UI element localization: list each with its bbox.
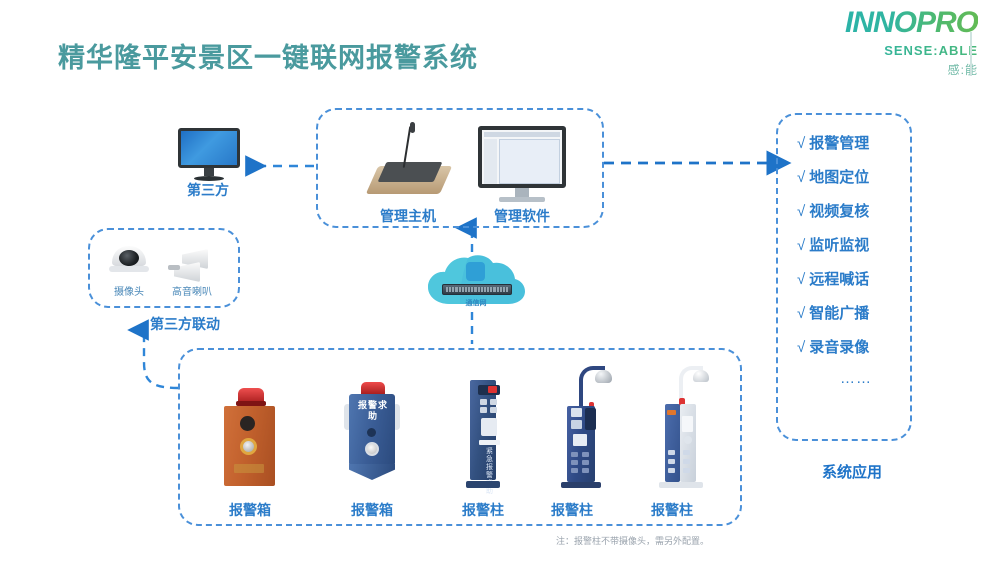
application-label: 远程喊话: [809, 271, 869, 288]
emergency-button: [365, 442, 379, 456]
pillar-grille: [582, 468, 589, 473]
pillar-base: [659, 482, 703, 488]
terminals-note: 注：报警柱不带摄像头，需另外配置。: [556, 534, 709, 547]
network-switch: [442, 284, 512, 295]
alarm-box-body: 报警求助: [349, 394, 395, 466]
software-body: [484, 139, 560, 184]
dome-camera-icon: [595, 370, 612, 383]
application-item[interactable]: √智能广播: [797, 302, 907, 323]
emergency-button: [240, 438, 257, 455]
application-label: 智能广播: [809, 305, 869, 322]
speaker-grille: [240, 416, 255, 431]
horn-mount: [168, 265, 180, 270]
brand-logo: INNOPRO SENSE:ABLE 感:能: [845, 8, 978, 78]
orange-alarm-box-icon: [222, 388, 277, 486]
terminal-label: 报警箱: [324, 500, 420, 520]
check-icon: √: [797, 305, 805, 322]
software-screen: [478, 126, 566, 188]
logo-tagline-cn: 感:能: [845, 61, 978, 78]
applications-list: √报警管理 √地图定位 √视频复核 √监听监视 √远程喊话 √智能广播 √录音录…: [797, 132, 907, 387]
pillar-display: [571, 408, 582, 417]
pillar-grille: [582, 460, 589, 465]
pillar-grille: [668, 450, 675, 455]
box-faceplate-text: [234, 464, 264, 473]
horn-speaker: [166, 249, 214, 283]
call-panel: [481, 418, 497, 436]
logo-tagline: SENSE:ABLE: [845, 43, 978, 58]
management-host-label: 管理主机: [360, 206, 456, 226]
cloud-switch-icon: 通信网: [424, 252, 528, 312]
pillar-grille: [571, 468, 578, 473]
terminal-label: 报警箱: [202, 500, 298, 520]
monitor-neck: [204, 168, 214, 176]
dome-camera-icon: [693, 370, 709, 382]
cloud-label: 通信网: [424, 298, 528, 308]
console-top: [378, 162, 443, 182]
pillar-vertical-text: 紧急报警求助: [483, 448, 496, 496]
network-glyph: [466, 262, 485, 281]
speaker-grille: [367, 428, 376, 437]
check-icon: √: [797, 339, 805, 356]
check-icon: √: [797, 237, 805, 254]
call-panel: [573, 434, 587, 446]
terminal-label: 报警柱: [435, 500, 531, 520]
check-icon: √: [797, 271, 805, 288]
pillar-grille: [668, 468, 675, 473]
blue-alarm-box-icon: 报警求助: [345, 382, 399, 487]
box-faceplate-text: 报警求助: [358, 400, 388, 422]
software-monitor-neck: [515, 188, 529, 197]
software-content: [499, 139, 560, 184]
terminal-label: 报警柱: [524, 500, 620, 520]
keypad-key: [490, 407, 497, 413]
pillar-grille: [683, 468, 690, 473]
application-item[interactable]: √地图定位: [797, 166, 907, 187]
slim-alarm-pillar-icon: 紧急报警求助: [464, 380, 502, 488]
label-strip: [479, 440, 500, 445]
alarm-box-body: [224, 406, 275, 486]
pillar-grille: [571, 460, 578, 465]
desktop-monitor-icon: [478, 126, 566, 202]
application-item[interactable]: √录音录像: [797, 336, 907, 357]
page-title: 精华隆平安景区一键联网报警系统: [58, 36, 478, 75]
third-party-label: 第三方: [158, 180, 258, 200]
pillar-dark-panel: [585, 408, 596, 430]
software-sidebar: [484, 139, 497, 184]
pillar-base: [561, 482, 601, 488]
terminal-label: 报警柱: [624, 500, 720, 520]
application-label: 报警管理: [809, 135, 869, 152]
pillar-brand-strip: [667, 410, 676, 415]
check-icon: √: [797, 169, 805, 186]
keypad-key: [480, 407, 487, 413]
management-software-label: 管理软件: [474, 206, 570, 226]
software-toolbar: [484, 132, 560, 137]
application-item[interactable]: √报警管理: [797, 132, 907, 153]
pillar-grille: [582, 452, 589, 457]
camera-dome: [112, 246, 146, 266]
pillar-base: [466, 481, 500, 488]
indicator-light: [488, 386, 497, 393]
microphone-console-icon: [366, 122, 456, 200]
horn-speaker-icon: [166, 249, 214, 283]
applications-title: 系统应用: [797, 461, 907, 482]
pillar-display: [682, 416, 693, 432]
pillar-grille: [683, 450, 690, 455]
application-label: 视频复核: [809, 203, 869, 220]
pillar-grille: [683, 459, 690, 464]
monitor-screen: [178, 128, 240, 168]
link-terminals-to-thirdparty-linkage: [144, 330, 178, 388]
application-item[interactable]: √视频复核: [797, 200, 907, 221]
pillar-grille: [571, 452, 578, 457]
logo-divider: [970, 32, 972, 76]
camera-label: 摄像头: [98, 283, 160, 298]
horn-speaker-label: 高音喇叭: [158, 283, 226, 298]
application-label: 录音录像: [809, 339, 869, 356]
pillar-body: 紧急报警求助: [470, 380, 496, 480]
application-item[interactable]: √监听监视: [797, 234, 907, 255]
emergency-button: [684, 436, 692, 444]
pillar-display-secondary: [571, 420, 582, 429]
software-monitor-base: [499, 197, 545, 202]
check-icon: √: [797, 135, 805, 152]
application-label: 地图定位: [809, 169, 869, 186]
alarm-pillar-white-pole-icon: [651, 358, 709, 490]
third-party-linkage-label: 第三方联动: [150, 314, 260, 334]
dome-camera-icon: [112, 246, 149, 272]
third-party-monitor-icon: [178, 128, 240, 181]
logo-wordmark: INNOPRO: [845, 8, 978, 38]
pillar-grille: [668, 459, 675, 464]
microphone-head: [410, 122, 415, 133]
camera-foot: [109, 266, 149, 272]
check-icon: √: [797, 203, 805, 220]
application-label: 监听监视: [809, 237, 869, 254]
keypad-key: [490, 399, 497, 405]
camera-lens: [119, 250, 139, 266]
application-item[interactable]: √远程喊话: [797, 268, 907, 289]
alarm-pillar-camera-icon: [551, 360, 609, 490]
diagram-canvas: 精华隆平安景区一键联网报警系统 INNOPRO SENSE:ABLE 感:能 a…: [0, 0, 1000, 563]
keypad-key: [480, 399, 487, 405]
applications-more: ……: [797, 370, 907, 387]
